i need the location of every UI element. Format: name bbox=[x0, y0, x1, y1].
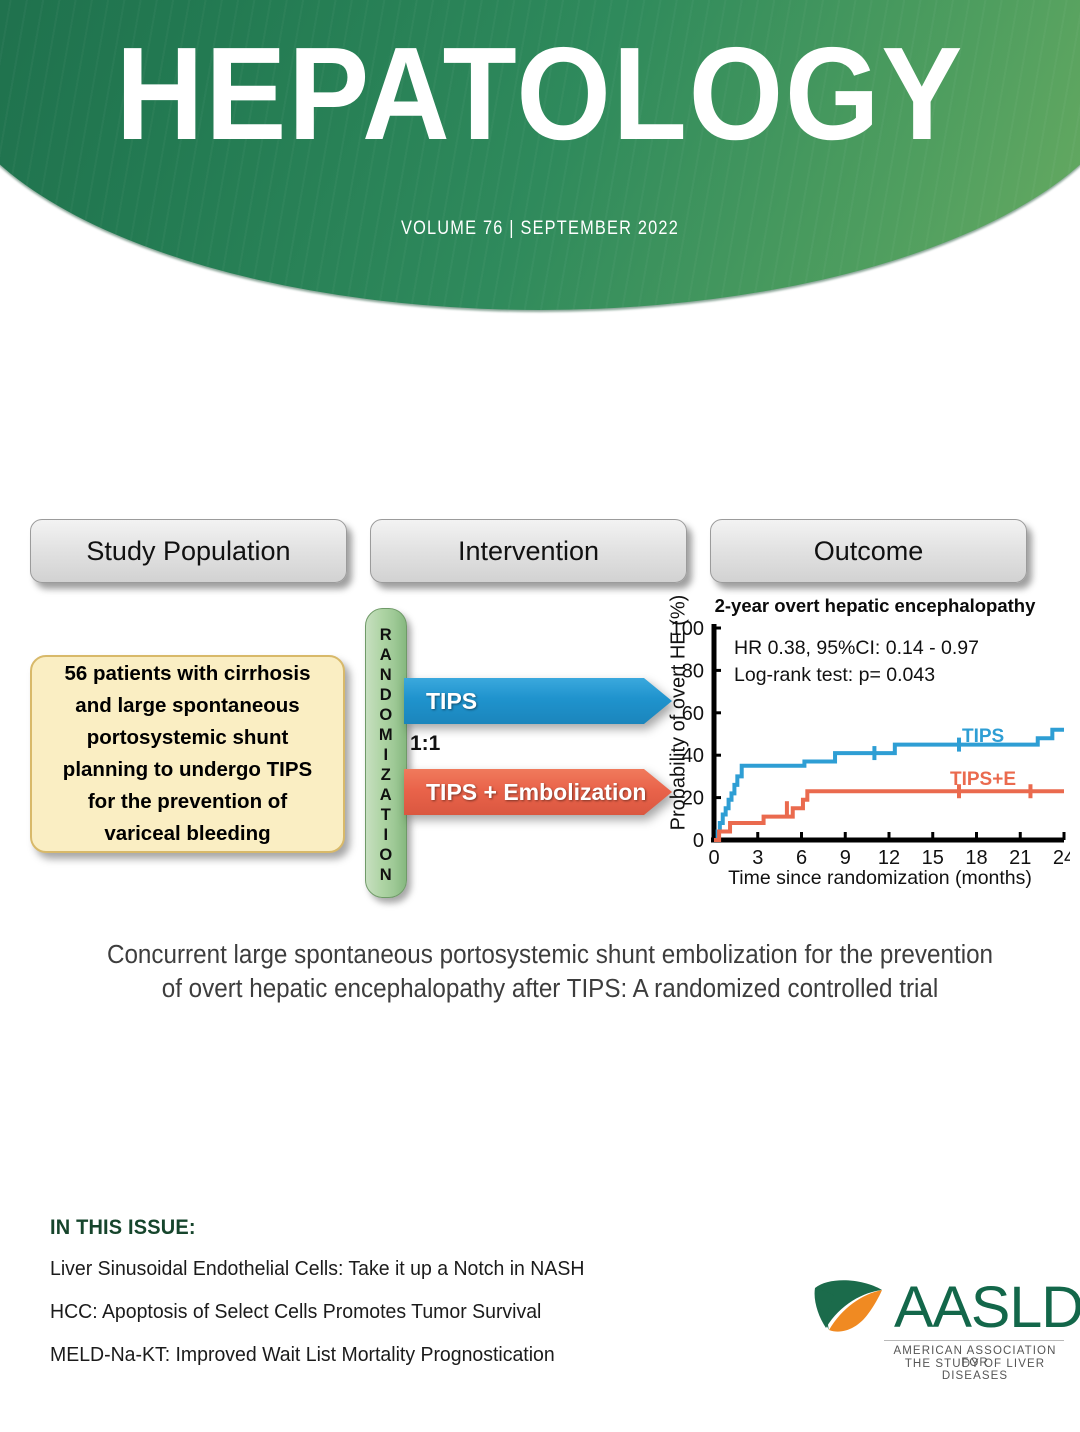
section-header-intervention-label: Intervention bbox=[458, 536, 599, 567]
chart-x-tick-label: 18 bbox=[965, 847, 987, 869]
chart-legend-tips: TIPS bbox=[962, 726, 1004, 748]
randomization-letter: I bbox=[383, 825, 388, 845]
randomization-letter: T bbox=[381, 805, 392, 825]
aasld-leaf-icon bbox=[812, 1278, 886, 1340]
section-header-outcome: Outcome bbox=[710, 519, 1027, 583]
km-chart: 2-year overt hepatic encephalopathy Prob… bbox=[650, 595, 1070, 915]
chart-y-tick-label: 100 bbox=[671, 618, 704, 640]
chart-x-tick-label: 15 bbox=[922, 847, 944, 869]
chart-x-tick-label: 12 bbox=[878, 847, 900, 869]
randomization-letter: M bbox=[379, 725, 393, 745]
chart-x-tick-label: 9 bbox=[840, 847, 851, 869]
chart-y-tick-label: 80 bbox=[682, 660, 704, 682]
arm-arrow-tips-embolization-wrap: TIPS + Embolization bbox=[404, 769, 672, 815]
randomization-letter: I bbox=[383, 745, 388, 765]
arm-arrow-tips-label: TIPS bbox=[426, 688, 477, 715]
chart-y-tick-label: 20 bbox=[682, 788, 704, 810]
logo-divider bbox=[884, 1340, 1064, 1341]
aasld-tagline-line2: THE STUDY OF LIVER DISEASES bbox=[884, 1358, 1066, 1382]
randomization-letter: O bbox=[379, 705, 392, 725]
aasld-logo: AASLD AMERICAN ASSOCIATION FOR THE STUDY… bbox=[812, 1278, 1064, 1370]
chart-x-tick-label: 21 bbox=[1009, 847, 1031, 869]
feature-article-title: Concurrent large spontaneous portosystem… bbox=[94, 938, 1006, 1006]
in-this-issue-heading: IN THIS ISSUE: bbox=[50, 1216, 620, 1240]
randomization-letter: A bbox=[380, 785, 392, 805]
chart-annotation: Log-rank test: p= 0.043 bbox=[734, 664, 935, 686]
randomization-letter: N bbox=[380, 865, 392, 885]
arm-arrow-tips: TIPS bbox=[404, 678, 672, 724]
in-this-issue-item: Liver Sinusoidal Endothelial Cells: Take… bbox=[50, 1256, 620, 1282]
chart-x-tick-label: 6 bbox=[796, 847, 807, 869]
chart-y-tick-label: 0 bbox=[693, 830, 704, 852]
in-this-issue-block: IN THIS ISSUE: Liver Sinusoidal Endothel… bbox=[50, 1216, 650, 1385]
arm-arrow-tips-wrap: TIPS bbox=[404, 678, 672, 724]
section-header-intervention: Intervention bbox=[370, 519, 687, 583]
in-this-issue-item: MELD-Na-KT: Improved Wait List Mortality… bbox=[50, 1342, 620, 1368]
chart-legend-tips-embolization: TIPS+E bbox=[950, 769, 1016, 791]
randomization-letter: A bbox=[380, 645, 392, 665]
graphical-abstract: Study Population Intervention Outcome 56… bbox=[0, 500, 1080, 1010]
randomization-letter: O bbox=[379, 845, 392, 865]
chart-y-tick-label: 60 bbox=[682, 703, 704, 725]
study-population-text: 56 patients with cirrhosis and large spo… bbox=[48, 658, 327, 850]
journal-title: HEPATOLOGY bbox=[43, 28, 1037, 160]
chart-x-tick-label: 24 bbox=[1053, 847, 1070, 869]
chart-x-tick-label: 0 bbox=[708, 847, 719, 869]
study-population-box: 56 patients with cirrhosis and large spo… bbox=[30, 655, 345, 853]
chart-x-tick-label: 3 bbox=[752, 847, 763, 869]
chart-annotation: HR 0.38, 95%CI: 0.14 - 0.97 bbox=[734, 637, 979, 659]
arm-arrow-tips-embolization: TIPS + Embolization bbox=[404, 769, 672, 815]
randomization-letter: D bbox=[380, 685, 392, 705]
randomization-letter: N bbox=[380, 665, 392, 685]
arm-arrow-tips-embolization-label: TIPS + Embolization bbox=[426, 779, 646, 806]
in-this-issue-item: HCC: Apoptosis of Select Cells Promotes … bbox=[50, 1299, 620, 1325]
randomization-bar: RANDOMIZATION bbox=[365, 608, 407, 898]
chart-plot-area: 02040608010003691215182124HR 0.38, 95%CI… bbox=[650, 595, 1070, 895]
journal-issue-line: VOLUME 76 | SEPTEMBER 2022 bbox=[76, 218, 1005, 240]
chart-y-tick-label: 40 bbox=[682, 745, 704, 767]
section-header-study-population: Study Population bbox=[30, 519, 347, 583]
section-header-study-population-label: Study Population bbox=[86, 536, 290, 567]
allocation-ratio-label: 1:1 bbox=[410, 732, 440, 756]
section-header-outcome-label: Outcome bbox=[814, 536, 924, 567]
randomization-letter: R bbox=[380, 625, 392, 645]
randomization-letter: Z bbox=[381, 765, 392, 785]
aasld-wordmark: AASLD bbox=[894, 1274, 1080, 1341]
